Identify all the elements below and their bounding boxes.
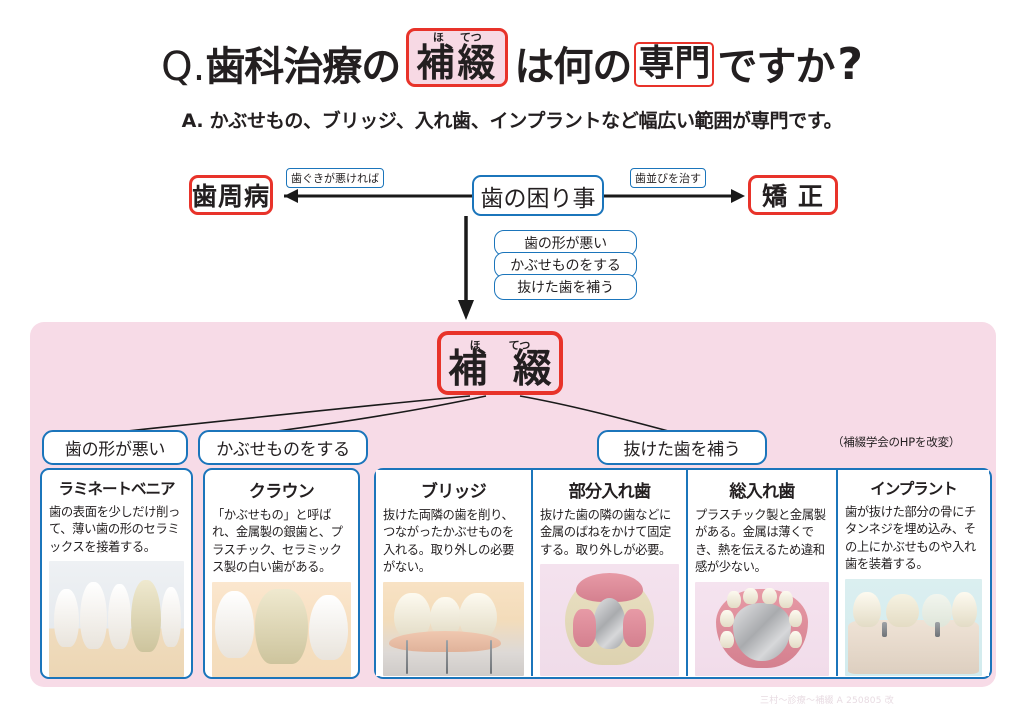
card-title: 総入れ歯 — [695, 477, 829, 502]
title-segment-2: は何の — [514, 47, 631, 87]
node-orthodontics[interactable]: 矯 正 — [748, 175, 838, 215]
card-laminate-veneer[interactable]: ラミネートベニア 歯の表面を少しだけ削って、薄い歯の形のセラミックスを接着する。 — [40, 468, 193, 679]
bridge-photo — [383, 582, 524, 676]
card-group-missing-tooth: ブリッジ 抜けた両隣の歯を削り、つながったかぶせものを入れる。取り外しの必要がな… — [374, 468, 992, 679]
subtitle: A. かぶせもの、ブリッジ、入れ歯、インプラントなど幅広い範囲が専門です。 — [0, 106, 1024, 133]
category-label-crown: かぶせものをする — [198, 430, 368, 465]
node-hotetsu-prosthodontics[interactable]: ほ てつ 補 綴 — [437, 331, 563, 395]
full-denture-photo — [695, 582, 829, 676]
card-crown[interactable]: クラウン 「かぶせもの」と呼ばれ、金属製の銀歯と、プラスチック、セラミックス製の… — [203, 468, 360, 679]
implant-photo — [845, 579, 982, 676]
node-periodontal-disease[interactable]: 歯周病 — [189, 175, 273, 215]
card-description: 抜けた両隣の歯を削り、つながったかぶせものを入れる。取り外しの必要がない。 — [383, 507, 524, 577]
title-senmon-highlight: 専門 — [634, 42, 714, 87]
title-segment-1: 歯科治療の — [205, 47, 400, 87]
veneer-photo — [49, 561, 184, 677]
card-title: クラウン — [212, 477, 351, 502]
card-description: 抜けた歯の隣の歯などに金属のばねをかけて固定する。取り外しが必要。 — [540, 507, 679, 559]
pill-replace-missing-tooth: 抜けた歯を補う — [494, 274, 637, 300]
page-title: Q. 歯科治療の ほ てつ 補綴 は何の 専門 ですか ? — [0, 28, 1024, 87]
card-description: 「かぶせもの」と呼ばれ、金属製の銀歯と、プラスチック、セラミックス製の白い歯があ… — [212, 507, 351, 577]
source-credit: （補綴学会のHPを改変） — [832, 434, 992, 450]
card-description: 歯が抜けた部分の骨にチタンネジを埋め込み、その上にかぶせものや入れ歯を装着する。 — [845, 504, 982, 574]
card-bridge[interactable]: ブリッジ 抜けた両隣の歯を削り、つながったかぶせものを入れる。取り外しの必要がな… — [376, 470, 531, 676]
card-title: 部分入れ歯 — [540, 477, 679, 502]
crown-photo — [212, 582, 351, 677]
edge-label-alignment: 歯並びを治す — [630, 168, 706, 188]
title-hotetsu-highlight: ほ てつ 補綴 — [406, 28, 508, 87]
partial-denture-photo — [540, 564, 679, 676]
infographic-page: Q. 歯科治療の ほ てつ 補綴 は何の 専門 ですか ? A. かぶせもの、ブ… — [0, 0, 1024, 706]
edge-label-gum-problem: 歯ぐきが悪ければ — [286, 168, 384, 188]
title-segment-3: ですか — [717, 47, 834, 87]
card-description: 歯の表面を少しだけ削って、薄い歯の形のセラミックスを接着する。 — [49, 504, 184, 556]
hotetsu-node-label: 補 綴 — [442, 350, 558, 389]
title-q-prefix: Q. — [161, 47, 205, 87]
title-hotetsu-text: 補綴 — [416, 44, 498, 82]
card-partial-denture[interactable]: 部分入れ歯 抜けた歯の隣の歯などに金属のばねをかけて固定する。取り外しが必要。 — [531, 470, 686, 676]
watermark-text: 三村〜診療〜補綴 A 250805 改 — [760, 693, 1010, 706]
card-title: ラミネートベニア — [49, 477, 184, 499]
node-dental-problems[interactable]: 歯の困り事 — [472, 175, 604, 216]
card-description: プラスチック製と金属製がある。金属は薄くでき、熱を伝えるため違和感が少ない。 — [695, 507, 829, 577]
card-implant[interactable]: インプラント 歯が抜けた部分の骨にチタンネジを埋め込み、その上にかぶせものや入れ… — [836, 470, 989, 676]
title-question-mark: ? — [834, 43, 863, 87]
card-title: インプラント — [845, 477, 982, 499]
card-full-denture[interactable]: 総入れ歯 プラスチック製と金属製がある。金属は薄くでき、熱を伝えるため違和感が少… — [686, 470, 836, 676]
category-label-bad-tooth-shape: 歯の形が悪い — [42, 430, 188, 465]
card-title: ブリッジ — [383, 477, 524, 502]
category-label-missing-tooth: 抜けた歯を補う — [597, 430, 767, 465]
